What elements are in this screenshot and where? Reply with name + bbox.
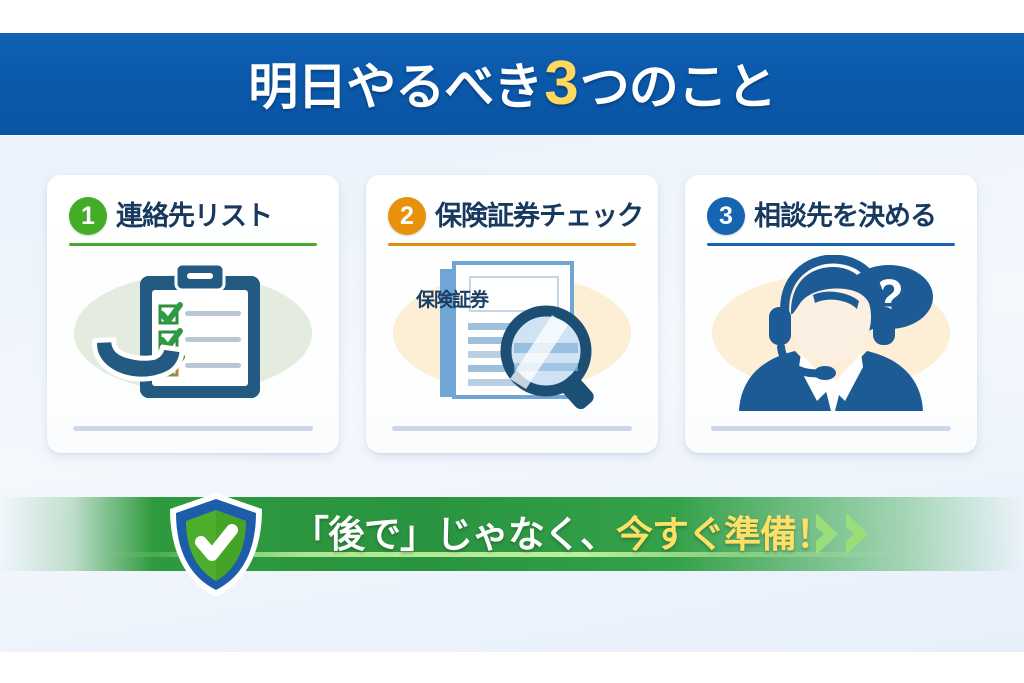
card-2-header: 2 保険証券チェック xyxy=(388,193,644,239)
clipboard-checklist-phone-icon xyxy=(88,258,298,408)
call-to-action-banner: 「後で」じゃなく、今すぐ準備！ xyxy=(0,497,1024,571)
banner-text-white: 「後で」じゃなく、 xyxy=(292,516,616,553)
card-2-illustration: 保険証券 xyxy=(366,253,658,413)
card-policy-check[interactable]: 2 保険証券チェック xyxy=(366,175,658,453)
card-2-footer-rule xyxy=(392,426,632,431)
card-1-illustration xyxy=(47,253,339,413)
insurance-policy-magnifier-icon xyxy=(406,257,618,409)
card-3-header: 3 相談先を決める xyxy=(707,193,963,239)
card-3-footer-rule xyxy=(711,426,951,431)
page-title: 明日やるべき3つのこと xyxy=(248,53,775,115)
card-1-title: 連絡先リスト xyxy=(116,203,272,230)
card-3-title: 相談先を決める xyxy=(754,203,936,230)
card-1-accent-rule xyxy=(69,243,317,246)
card-1-header: 1 連絡先リスト xyxy=(69,193,325,239)
shield-check-icon xyxy=(164,490,268,600)
policy-document-label: 保険証券 xyxy=(408,285,496,312)
banner-text-highlight: 今すぐ準備！ xyxy=(616,516,832,553)
infographic-canvas: 明日やるべき3つのこと 1 連絡先リスト xyxy=(0,0,1024,683)
badge-1: 1 xyxy=(69,197,107,235)
title-text-before: 明日やるべき xyxy=(248,62,542,112)
card-contact-list[interactable]: 1 連絡先リスト xyxy=(47,175,339,453)
card-2-title: 保険証券チェック xyxy=(435,203,643,230)
headset-operator-question-icon: ? xyxy=(721,255,941,411)
cards-row: 1 連絡先リスト xyxy=(47,175,977,453)
badge-2: 2 xyxy=(388,197,426,235)
card-choose-advisor[interactable]: 3 相談先を決める ? xyxy=(685,175,977,453)
header-bar: 明日やるべき3つのこと xyxy=(0,33,1024,135)
title-text-after: つのこと xyxy=(580,62,776,112)
title-highlight-number: 3 xyxy=(544,53,577,115)
badge-3: 3 xyxy=(707,197,745,235)
card-3-illustration: ? xyxy=(685,253,977,413)
banner-message: 「後で」じゃなく、今すぐ準備！ xyxy=(292,497,832,571)
card-2-accent-rule xyxy=(388,243,636,246)
double-chevron-right-icon xyxy=(812,511,892,557)
card-3-accent-rule xyxy=(707,243,955,246)
card-1-footer-rule xyxy=(73,426,313,431)
